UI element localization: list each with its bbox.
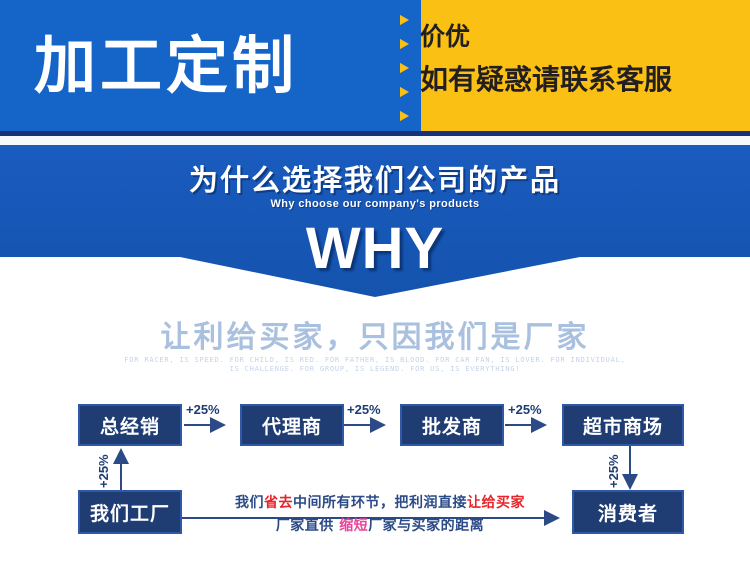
- white-gap-rule: [0, 136, 750, 145]
- flow-node-supermarket[interactable]: 超市商场: [562, 404, 684, 446]
- banner-headline-en: Why choose our company's products: [0, 198, 750, 210]
- markup-label-2: +25%: [347, 402, 381, 417]
- slogan-en: FOR RACER, IS SPEED. FOR CHILD, IS RED. …: [0, 356, 750, 374]
- mid1-part1: 我们: [235, 495, 264, 511]
- mid1-part2: 省去: [264, 495, 293, 511]
- markup-label-1: +25%: [186, 402, 220, 417]
- zigzag-divider-icon: [395, 0, 421, 131]
- markup-label-3: +25%: [508, 402, 542, 417]
- mid2-part1: 厂家直供: [276, 518, 339, 534]
- why-banner: 为什么选择我们公司的产品 Why choose our company's pr…: [0, 145, 750, 297]
- flow-node-our-factory[interactable]: 我们工厂: [78, 490, 182, 534]
- header-banner: 加工定制 价优 如有疑惑请联系客服: [0, 0, 750, 131]
- flow-node-agent[interactable]: 代理商: [240, 404, 344, 446]
- markup-label-4: +25%: [96, 454, 111, 488]
- promo-graphic: 加工定制 价优 如有疑惑请联系客服 为什么选择我们公司的产品 Why choos…: [0, 0, 750, 566]
- flow-node-wholesaler[interactable]: 批发商: [400, 404, 504, 446]
- distribution-flowchart: 总经销 代理商 批发商 超市商场 我们工厂 消费者 +25% +25% +25%…: [0, 392, 750, 566]
- flow-node-consumer[interactable]: 消费者: [572, 490, 684, 534]
- banner-headline-cn: 为什么选择我们公司的产品: [0, 157, 750, 199]
- flow-mid-text-line2: 厂家直供 缩短厂家与买家的距离: [208, 515, 552, 535]
- mid1-part3: 中间所有环节，把利润直接: [293, 495, 467, 511]
- slogan-en-line1: FOR RACER, IS SPEED. FOR CHILD, IS RED. …: [0, 356, 750, 365]
- header-subtitle-service: 如有疑惑请联系客服: [420, 63, 672, 97]
- markup-label-5: +25%: [606, 454, 621, 488]
- banner-why-word: WHY: [0, 215, 750, 282]
- flow-node-general-distributor[interactable]: 总经销: [78, 404, 182, 446]
- mid1-part4: 让给买家: [467, 495, 525, 511]
- flow-mid-text-line1: 我们省去中间所有环节，把利润直接让给买家: [208, 492, 552, 512]
- mid2-part2: 缩短: [339, 518, 368, 534]
- mid2-part3: 厂家与买家的距离: [368, 518, 484, 534]
- header-title: 加工定制: [34, 24, 384, 108]
- header-subtitle-price: 价优: [420, 22, 470, 52]
- slogan-main: 让利给买家，只因我们是厂家: [0, 312, 750, 356]
- slogan-en-line2: IS CHALLENGE. FOR GROUP, IS LEGEND. FOR …: [0, 365, 750, 374]
